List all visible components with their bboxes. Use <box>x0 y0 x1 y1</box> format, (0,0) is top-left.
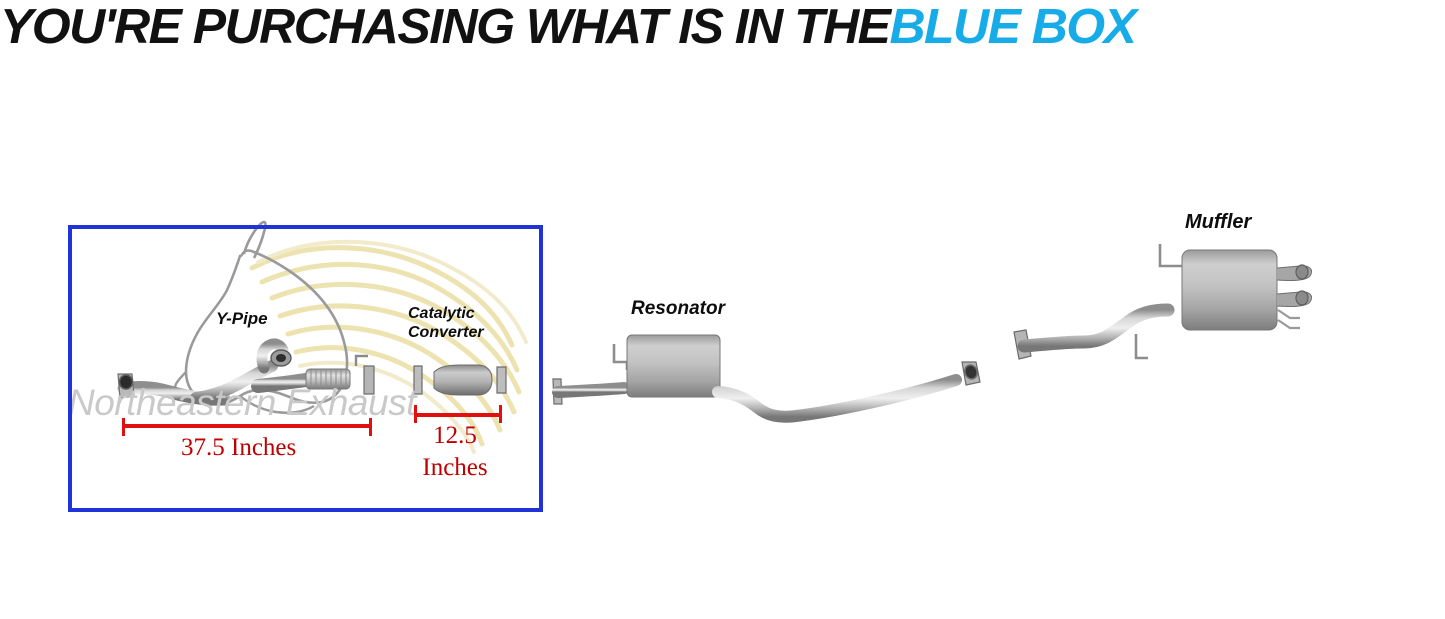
muffler-part <box>1014 244 1312 359</box>
dimension-label-12-5-line1: 12.5 <box>418 420 492 452</box>
dimension-cap-right-12-5 <box>499 405 502 423</box>
label-resonator: Resonator <box>631 298 725 320</box>
headline-banner: YOU'RE PURCHASING WHAT IS IN THE BLUE BO… <box>0 0 1445 54</box>
label-y-pipe: Y-Pipe <box>216 309 268 329</box>
dimension-label-12-5: 12.5 Inches <box>418 420 492 484</box>
product-illustration-page: YOU'RE PURCHASING WHAT IS IN THE BLUE BO… <box>0 0 1445 619</box>
label-catalytic-converter: Catalytic Converter <box>408 304 484 342</box>
dimension-label-37-5: 37.5 Inches <box>181 434 296 462</box>
dimension-line-37-5 <box>122 424 372 428</box>
label-catalytic-line2: Converter <box>408 323 484 342</box>
dimension-cap-left-37-5 <box>122 418 125 436</box>
dimension-cap-right-37-5 <box>369 418 372 436</box>
label-muffler: Muffler <box>1185 211 1251 234</box>
dimension-label-12-5-line2: Inches <box>418 452 492 484</box>
label-catalytic-line1: Catalytic <box>408 304 484 323</box>
dimension-cap-left-12-5 <box>414 405 417 423</box>
headline-text-black: YOU'RE PURCHASING WHAT IS IN THE <box>0 0 889 54</box>
resonator-part <box>553 335 980 417</box>
headline-text-blue: BLUE BOX <box>889 0 1135 54</box>
dimension-line-12-5 <box>414 413 502 417</box>
